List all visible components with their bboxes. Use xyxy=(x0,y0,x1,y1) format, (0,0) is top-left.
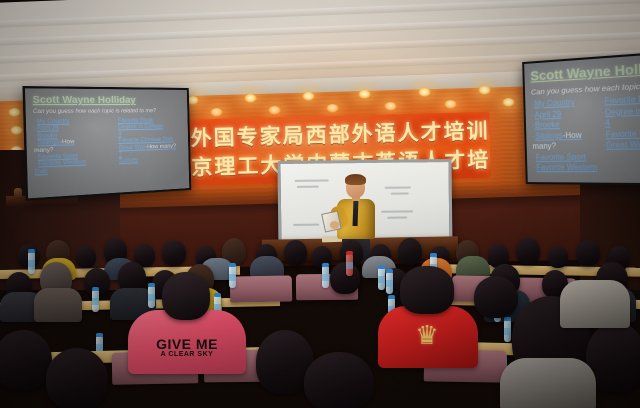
audience-head xyxy=(400,266,454,314)
slide-left-column: ·My Country ·April 29 ·Brooke ·Siblings-… xyxy=(33,118,109,176)
slide-bullet: ·Favorite Chinese Dish xyxy=(602,128,640,141)
audience-head xyxy=(304,352,374,408)
audience-head xyxy=(162,272,210,320)
projection-screen-right: Scott Wayne Holliday Can you guess how e… xyxy=(522,51,640,186)
slide-bullet: ·4 xyxy=(602,116,640,129)
slide-bullet: ·Favorite Sport xyxy=(533,152,597,163)
slide-content-right: Scott Wayne Holliday Can you guess how e… xyxy=(524,53,640,183)
slide-content-left: Scott Wayne Holliday Can you guess how e… xyxy=(25,88,189,198)
slide-bullet: ·Great Wall xyxy=(603,139,640,151)
shelf-object xyxy=(14,188,22,199)
slide-right-column: ·Favorite Book ·Degree in College ·4 ·Fa… xyxy=(115,117,183,172)
hoodie-text-line1: GIVE ME xyxy=(140,336,234,352)
slide-right-column: ·Favorite Book ·Degree in College ·4 ·Fa… xyxy=(601,93,640,174)
slide-left-column: ·My Country ·April 29 ·Brooke ·Siblings-… xyxy=(531,97,597,174)
crown-graphic: ♛ xyxy=(388,322,466,348)
slide-subtitle: Can you guess how each topic is related … xyxy=(33,108,182,115)
slide-title: Scott Wayne Holliday xyxy=(530,59,640,84)
slide-title: Scott Wayne Holliday xyxy=(32,94,181,105)
audience-head xyxy=(46,348,108,408)
slide-bullet: ·Sydney xyxy=(116,156,183,165)
hoodie-text-line2: A CLEAR SKY xyxy=(140,351,234,358)
slide-bullet: ·Degree in College xyxy=(602,105,640,119)
audience-head xyxy=(0,330,52,390)
lecture-hall-photo: 家外国专家局西部外语人才培训工程 北京理工大学内蒙古英语人才培训计划》 Scot… xyxy=(0,0,640,408)
audience-head xyxy=(474,276,518,318)
speaker-hair xyxy=(345,174,366,185)
slide-bullet: ·Favorite Western xyxy=(533,163,597,174)
projection-screen-left: Scott Wayne Holliday Can you guess how e… xyxy=(22,86,191,201)
slide-bullet: many? xyxy=(532,141,596,153)
speaker-tie xyxy=(353,200,359,226)
